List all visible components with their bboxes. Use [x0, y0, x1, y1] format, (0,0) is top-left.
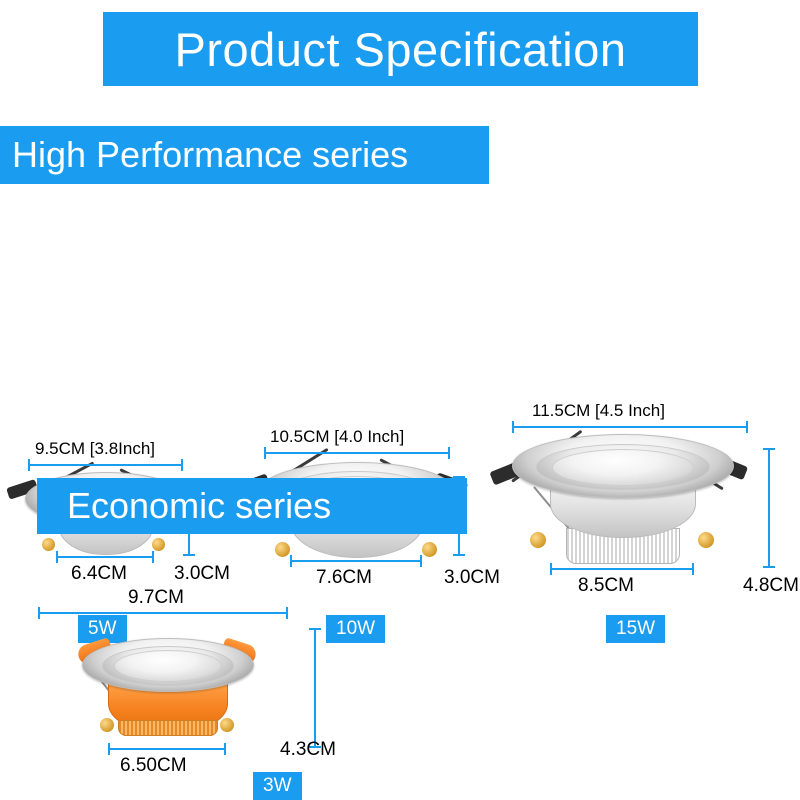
- dimension-height-10w: 3.0CM: [444, 568, 500, 587]
- dimension-diameter-5w: 9.5CM [3.8Inch]: [35, 440, 155, 457]
- dimension-height-3w: 4.3CM: [280, 740, 336, 759]
- dimension-line-height-15w: [768, 448, 770, 568]
- section-header-economic: Economic series: [37, 478, 467, 534]
- screw-left-icon: [100, 718, 114, 732]
- screw-right-icon: [220, 718, 234, 732]
- dimension-line-cutout-3w: [108, 748, 226, 750]
- dimension-line-diameter-3w: [38, 612, 288, 614]
- page-title-banner: Product Specification: [103, 12, 698, 86]
- lamp-heatsink-3w: [118, 720, 218, 736]
- dimension-line-diameter-5w: [28, 464, 183, 466]
- dimension-line-cutout-5w: [56, 556, 154, 558]
- product-specification-page: Product Specification High Performance s…: [0, 0, 800, 800]
- dimension-diameter-10w: 10.5CM [4.0 Inch]: [270, 428, 404, 445]
- section-header-high-performance: High Performance series: [0, 126, 489, 184]
- dimension-height-15w: 4.8CM: [743, 576, 799, 595]
- product-15w: 11.5CM [4.5 Inch] 8.5CM 4.8CM 15W: [490, 180, 800, 450]
- lamp-lens-3w: [114, 650, 222, 682]
- watt-badge-3w: 3W: [253, 772, 302, 800]
- dimension-cutout-3w: 6.50CM: [120, 756, 187, 775]
- lamp-lens-15w: [552, 449, 694, 486]
- page-title: Product Specification: [174, 26, 626, 73]
- screw-left-icon: [530, 532, 546, 548]
- section-header-label: Economic series: [67, 488, 331, 524]
- section-header-label: High Performance series: [12, 137, 408, 173]
- screw-right-icon: [422, 542, 437, 557]
- dimension-line-diameter-10w: [264, 452, 450, 454]
- dimension-cutout-15w: 8.5CM: [578, 576, 634, 595]
- dimension-line-cutout-15w: [550, 568, 694, 570]
- watt-badge-10w: 10W: [326, 615, 385, 643]
- product-5w: 9.5CM [3.8Inch] 6.4CM 3.0CM 5W: [0, 200, 230, 450]
- screw-right-icon: [152, 538, 165, 551]
- product-10w: 10.5CM [4.0 Inch] 7.6CM 3.0CM 10W: [240, 200, 520, 450]
- dimension-diameter-15w: 11.5CM [4.5 Inch]: [532, 402, 665, 419]
- screw-right-icon: [698, 532, 714, 548]
- product-3w: 9.7CM 6.50CM 4.3CM 3W: [0, 560, 330, 800]
- watt-badge-15w: 15W: [606, 615, 665, 643]
- screw-left-icon: [275, 542, 290, 557]
- dimension-line-height-3w: [314, 628, 316, 748]
- screw-left-icon: [42, 538, 55, 551]
- dimension-diameter-3w: 9.7CM: [128, 588, 184, 607]
- dimension-line-diameter-15w: [512, 426, 748, 428]
